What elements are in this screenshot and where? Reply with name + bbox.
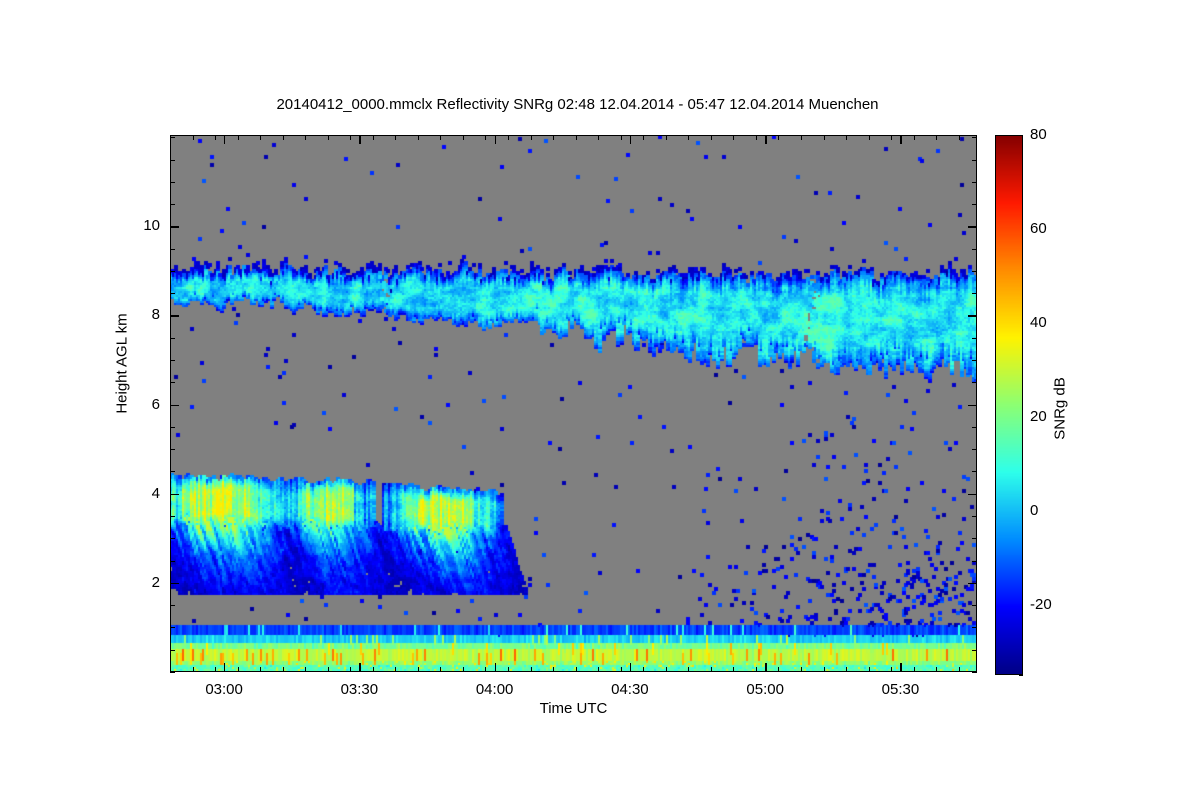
x-minor-tick-top	[238, 135, 239, 140]
x-major-tick	[900, 663, 901, 672]
colorbar-tick-label: 40	[1030, 315, 1076, 330]
y-minor-tick	[170, 672, 175, 673]
x-minor-tick-top	[260, 135, 261, 140]
x-major-tick-top	[359, 135, 360, 144]
x-minor-tick	[598, 667, 599, 672]
x-tick-label: 03:00	[184, 682, 264, 697]
y-major-tick-right	[968, 315, 977, 316]
x-minor-tick-top	[395, 135, 396, 140]
x-minor-tick-top	[869, 135, 870, 140]
x-minor-tick	[373, 667, 374, 672]
y-minor-tick	[170, 538, 175, 539]
x-minor-tick	[553, 667, 554, 672]
x-minor-tick	[576, 667, 577, 672]
x-minor-tick-top	[688, 135, 689, 140]
x-minor-tick	[846, 667, 847, 672]
x-minor-tick-top	[959, 135, 960, 140]
x-minor-tick	[666, 667, 667, 672]
y-minor-tick-right	[972, 650, 977, 651]
colorbar-title: SNRg dB	[1052, 334, 1069, 484]
y-minor-tick	[170, 204, 175, 205]
y-minor-tick	[170, 293, 175, 294]
colorbar-panel	[995, 135, 1023, 675]
y-major-tick	[170, 405, 179, 406]
colorbar-minor-tick	[1019, 675, 1023, 676]
y-minor-tick-right	[972, 561, 977, 562]
x-minor-tick-top	[936, 135, 937, 140]
y-minor-tick	[170, 160, 175, 161]
figure-root: 20140412_0000.mmclx Reflectivity SNRg 02…	[0, 0, 1200, 800]
x-minor-tick	[328, 667, 329, 672]
x-minor-tick	[824, 667, 825, 672]
y-minor-tick-right	[972, 382, 977, 383]
x-minor-tick	[914, 667, 915, 672]
x-minor-tick-top	[666, 135, 667, 140]
y-tick-label: 2	[108, 575, 160, 590]
y-minor-tick	[170, 137, 175, 138]
x-minor-tick	[508, 667, 509, 672]
x-tick-label: 03:30	[319, 682, 399, 697]
x-minor-tick	[801, 667, 802, 672]
y-minor-tick	[170, 182, 175, 183]
x-minor-tick-top	[440, 135, 441, 140]
y-minor-tick-right	[972, 449, 977, 450]
x-minor-tick	[531, 667, 532, 672]
x-minor-tick	[238, 667, 239, 672]
x-minor-tick	[215, 667, 216, 672]
x-minor-tick	[711, 667, 712, 672]
y-minor-tick-right	[972, 360, 977, 361]
x-minor-tick	[193, 667, 194, 672]
y-minor-tick	[170, 650, 175, 651]
x-minor-tick-top	[328, 135, 329, 140]
x-minor-tick	[485, 667, 486, 672]
colorbar-canvas	[995, 135, 1023, 675]
y-minor-tick-right	[972, 471, 977, 472]
x-minor-tick-top	[576, 135, 577, 140]
x-minor-tick	[891, 667, 892, 672]
y-minor-tick-right	[972, 516, 977, 517]
x-minor-tick-top	[891, 135, 892, 140]
y-minor-tick-right	[972, 293, 977, 294]
y-minor-tick	[170, 449, 175, 450]
y-minor-tick-right	[972, 160, 977, 161]
y-major-tick-right	[968, 583, 977, 584]
y-major-tick	[170, 494, 179, 495]
x-minor-tick-top	[373, 135, 374, 140]
figure-title: 20140412_0000.mmclx Reflectivity SNRg 02…	[0, 96, 1155, 113]
y-minor-tick-right	[972, 672, 977, 673]
x-minor-tick	[959, 667, 960, 672]
x-minor-tick-top	[846, 135, 847, 140]
y-major-tick-right	[968, 494, 977, 495]
x-minor-tick-top	[756, 135, 757, 140]
y-axis-title: Height AGL km	[114, 234, 131, 494]
colorbar-tick-label: -20	[1030, 597, 1076, 612]
x-minor-tick	[305, 667, 306, 672]
y-minor-tick	[170, 471, 175, 472]
y-minor-tick	[170, 360, 175, 361]
x-minor-tick-top	[485, 135, 486, 140]
x-major-tick	[765, 663, 766, 672]
x-minor-tick-top	[463, 135, 464, 140]
x-minor-tick-top	[305, 135, 306, 140]
x-minor-tick-top	[193, 135, 194, 140]
y-minor-tick	[170, 382, 175, 383]
x-minor-tick-top	[801, 135, 802, 140]
y-major-tick	[170, 315, 179, 316]
x-minor-tick-top	[553, 135, 554, 140]
x-minor-tick-top	[350, 135, 351, 140]
x-major-tick	[359, 663, 360, 672]
x-minor-tick	[756, 667, 757, 672]
y-minor-tick-right	[972, 605, 977, 606]
x-minor-tick-top	[643, 135, 644, 140]
x-minor-tick	[260, 667, 261, 672]
y-minor-tick-right	[972, 538, 977, 539]
y-major-tick	[170, 226, 179, 227]
x-axis-title: Time UTC	[170, 700, 977, 717]
y-minor-tick	[170, 627, 175, 628]
x-minor-tick	[643, 667, 644, 672]
y-minor-tick-right	[972, 338, 977, 339]
x-major-tick-top	[900, 135, 901, 144]
x-minor-tick	[621, 667, 622, 672]
y-minor-tick	[170, 605, 175, 606]
y-minor-tick-right	[972, 204, 977, 205]
y-minor-tick	[170, 516, 175, 517]
x-minor-tick	[733, 667, 734, 672]
x-tick-label: 05:00	[725, 682, 805, 697]
x-major-tick	[495, 663, 496, 672]
x-minor-tick	[688, 667, 689, 672]
x-minor-tick-top	[508, 135, 509, 140]
x-major-tick-top	[224, 135, 225, 144]
y-minor-tick-right	[972, 627, 977, 628]
x-major-tick	[224, 663, 225, 672]
x-tick-label: 04:30	[590, 682, 670, 697]
x-minor-tick	[418, 667, 419, 672]
x-major-tick-top	[765, 135, 766, 144]
y-minor-tick	[170, 271, 175, 272]
colorbar-tick-label: 0	[1030, 503, 1076, 518]
colorbar-tick-label: 60	[1030, 221, 1076, 236]
x-minor-tick	[350, 667, 351, 672]
x-minor-tick	[395, 667, 396, 672]
x-minor-tick	[778, 667, 779, 672]
y-minor-tick-right	[972, 137, 977, 138]
x-major-tick	[630, 663, 631, 672]
x-minor-tick-top	[598, 135, 599, 140]
radar-heatmap-panel	[170, 135, 977, 672]
x-minor-tick-top	[283, 135, 284, 140]
x-minor-tick-top	[215, 135, 216, 140]
y-major-tick	[170, 583, 179, 584]
y-tick-label: 10	[108, 218, 160, 233]
x-minor-tick	[283, 667, 284, 672]
x-minor-tick	[463, 667, 464, 672]
x-minor-tick-top	[733, 135, 734, 140]
colorbar-tick-label: 80	[1030, 127, 1076, 142]
x-minor-tick	[869, 667, 870, 672]
y-minor-tick-right	[972, 182, 977, 183]
x-major-tick-top	[630, 135, 631, 144]
x-minor-tick	[936, 667, 937, 672]
x-minor-tick-top	[914, 135, 915, 140]
y-minor-tick	[170, 561, 175, 562]
y-major-tick-right	[968, 226, 977, 227]
x-minor-tick-top	[778, 135, 779, 140]
y-minor-tick	[170, 249, 175, 250]
x-tick-label: 04:00	[455, 682, 535, 697]
x-minor-tick-top	[621, 135, 622, 140]
y-minor-tick-right	[972, 271, 977, 272]
x-minor-tick-top	[418, 135, 419, 140]
y-minor-tick	[170, 338, 175, 339]
x-minor-tick-top	[824, 135, 825, 140]
y-major-tick-right	[968, 405, 977, 406]
x-minor-tick-top	[531, 135, 532, 140]
radar-heatmap-canvas	[170, 135, 977, 672]
x-tick-label: 05:30	[860, 682, 940, 697]
y-minor-tick-right	[972, 249, 977, 250]
y-minor-tick-right	[972, 427, 977, 428]
x-major-tick-top	[495, 135, 496, 144]
x-minor-tick	[440, 667, 441, 672]
y-minor-tick	[170, 427, 175, 428]
x-minor-tick-top	[711, 135, 712, 140]
